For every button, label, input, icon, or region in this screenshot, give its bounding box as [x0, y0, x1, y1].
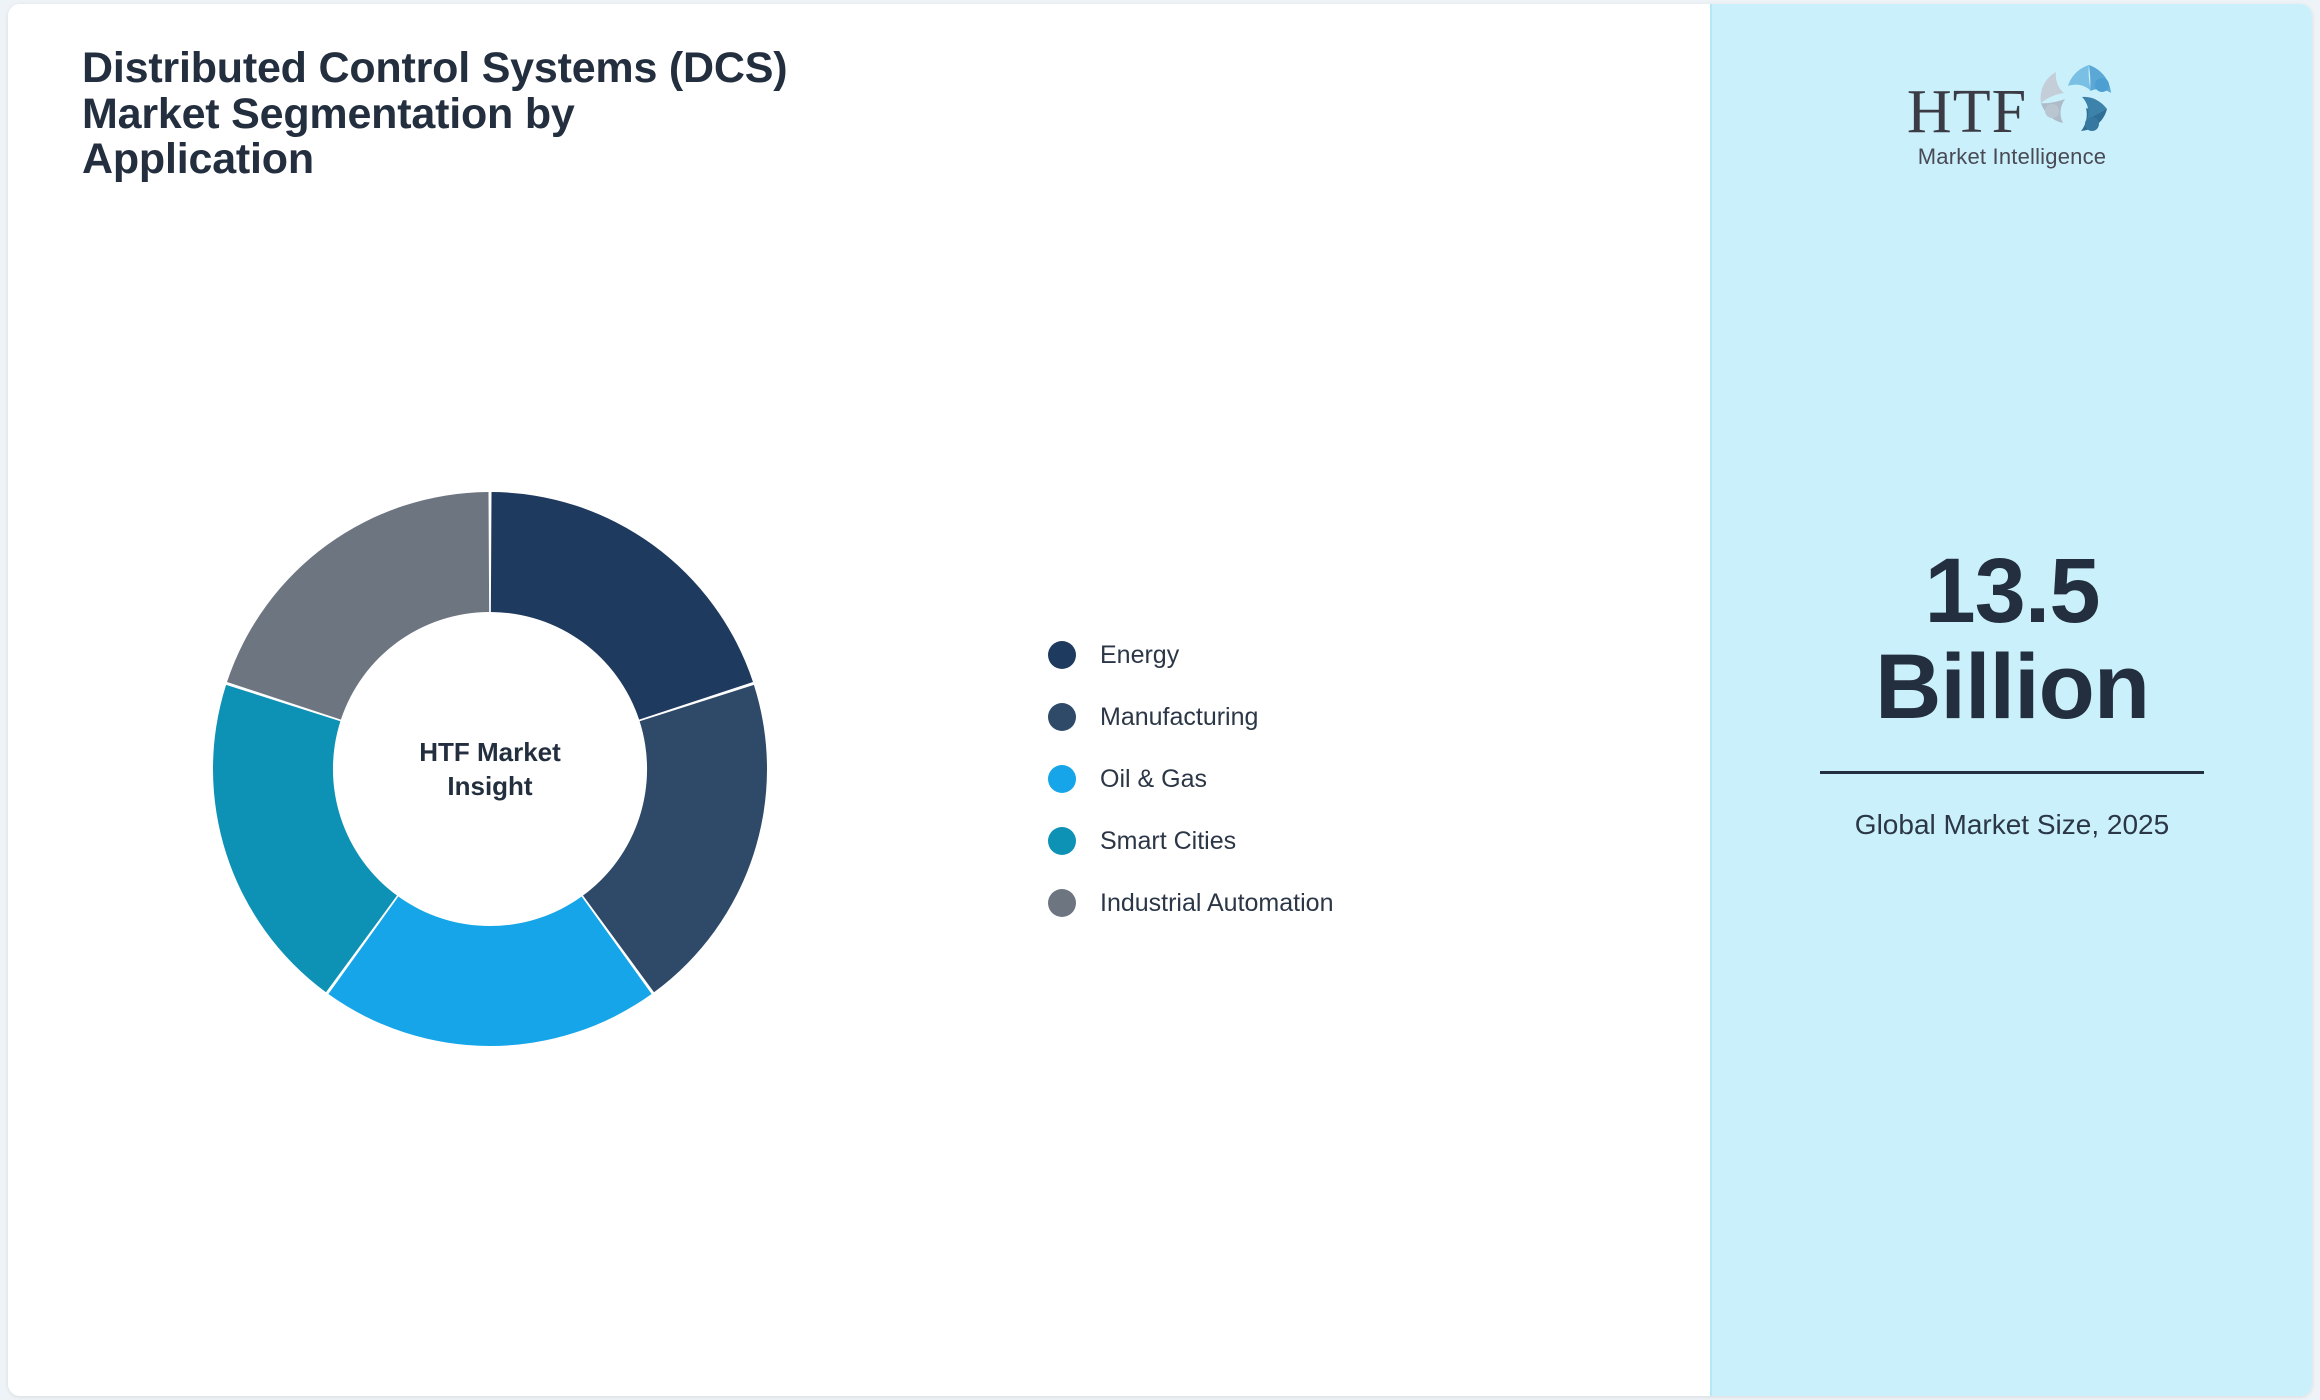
- legend-item-label: Smart Cities: [1100, 827, 1236, 856]
- chart-legend: EnergyManufacturingOil & GasSmart Cities…: [1048, 624, 1333, 934]
- legend-item[interactable]: Oil & Gas: [1048, 748, 1333, 810]
- page-title: Distributed Control Systems (DCS) Market…: [82, 46, 1062, 183]
- legend-swatch-icon: [1048, 827, 1076, 855]
- stat-value: 13.5 Billion: [1797, 544, 2227, 735]
- legend-swatch-icon: [1048, 889, 1076, 917]
- legend-item-label: Oil & Gas: [1100, 765, 1207, 794]
- legend-swatch-icon: [1048, 641, 1076, 669]
- legend-item-label: Energy: [1100, 641, 1179, 670]
- brand-wordmark: HTF: [1907, 83, 2027, 142]
- stat-caption: Global Market Size, 2025: [1797, 808, 2227, 841]
- brand-logo: HTF Market Intell: [1882, 66, 2142, 178]
- donut-slice[interactable]: [227, 492, 489, 720]
- stat-divider: [1820, 771, 2204, 774]
- legend-item[interactable]: Energy: [1048, 624, 1333, 686]
- chart-pane: Distributed Control Systems (DCS) Market…: [8, 4, 1710, 1396]
- htf-swirl-logo-icon: [2031, 59, 2117, 142]
- stat-block: 13.5 Billion Global Market Size, 2025: [1797, 544, 2227, 841]
- brand-logo-row: HTF: [1882, 66, 2142, 142]
- donut-chart: HTF Market Insight: [213, 492, 767, 1046]
- legend-swatch-icon: [1048, 765, 1076, 793]
- stat-pane: HTF Market Intell: [1710, 4, 2312, 1396]
- legend-swatch-icon: [1048, 703, 1076, 731]
- donut-slice[interactable]: [491, 492, 753, 720]
- donut-chart-svg: [213, 492, 767, 1046]
- legend-item-label: Manufacturing: [1100, 703, 1258, 732]
- legend-item-label: Industrial Automation: [1100, 889, 1333, 918]
- infographic-card: Distributed Control Systems (DCS) Market…: [8, 4, 2312, 1396]
- legend-item[interactable]: Smart Cities: [1048, 810, 1333, 872]
- brand-tagline: Market Intelligence: [1882, 144, 2142, 170]
- legend-item[interactable]: Industrial Automation: [1048, 872, 1333, 934]
- legend-item[interactable]: Manufacturing: [1048, 686, 1333, 748]
